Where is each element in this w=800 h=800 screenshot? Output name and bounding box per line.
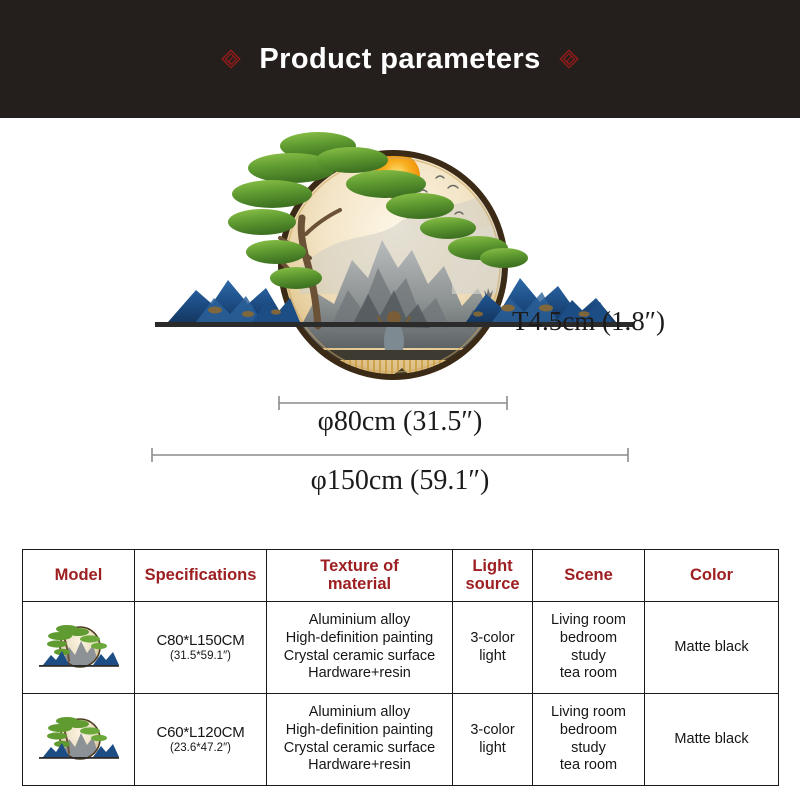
light-source-cell: 3-color light: [453, 602, 533, 694]
product-parameters-page: Product parameters: [0, 0, 800, 800]
model-thumbnail-cell: [23, 602, 135, 694]
product-thumbnail-icon: [33, 709, 125, 771]
page-title: Product parameters: [259, 43, 540, 76]
texture-cell: Aluminium alloy High-definition painting…: [267, 694, 453, 786]
total-width-label: φ150cm (59.1″): [0, 465, 800, 497]
diamond-ornament-icon: [221, 49, 241, 69]
product-thumbnail-icon: [33, 617, 125, 679]
table-header-row: Model Specifications Texture of material…: [23, 550, 779, 602]
light-source-cell: 3-color light: [453, 694, 533, 786]
specifications-table: Model Specifications Texture of material…: [22, 549, 779, 786]
column-header-color: Color: [645, 550, 779, 602]
table-row: C80*L150CM (31.5*59.1″) Aluminium alloy …: [23, 602, 779, 694]
header-band: Product parameters: [0, 0, 800, 118]
model-thumbnail-cell: [23, 694, 135, 786]
scene-cell: Living room bedroom study tea room: [533, 694, 645, 786]
column-header-scene: Scene: [533, 550, 645, 602]
specification-cell: C60*L120CM (23.6*47.2″): [135, 694, 267, 786]
color-cell: Matte black: [645, 602, 779, 694]
spec-sub-value: (31.5*59.1″): [138, 649, 263, 663]
spec-main-value: C60*L120CM: [138, 724, 263, 742]
spec-sub-value: (23.6*47.2″): [138, 741, 263, 755]
thickness-dimension-label: T4.5cm (1.8″): [512, 306, 665, 337]
texture-cell: Aluminium alloy High-definition painting…: [267, 602, 453, 694]
column-header-texture: Texture of material: [267, 550, 453, 602]
column-header-model: Model: [23, 550, 135, 602]
dimension-line-total: [152, 448, 628, 462]
header-inner: Product parameters: [221, 43, 578, 76]
color-cell: Matte black: [645, 694, 779, 786]
column-header-specifications: Specifications: [135, 550, 267, 602]
scene-cell: Living room bedroom study tea room: [533, 602, 645, 694]
column-header-light-source: Light source: [453, 550, 533, 602]
spec-main-value: C80*L150CM: [138, 632, 263, 650]
disc-diameter-label: φ80cm (31.5″): [0, 406, 800, 438]
table-row: C60*L120CM (23.6*47.2″) Aluminium alloy …: [23, 694, 779, 786]
specification-cell: C80*L150CM (31.5*59.1″): [135, 602, 267, 694]
diamond-ornament-icon: [559, 49, 579, 69]
